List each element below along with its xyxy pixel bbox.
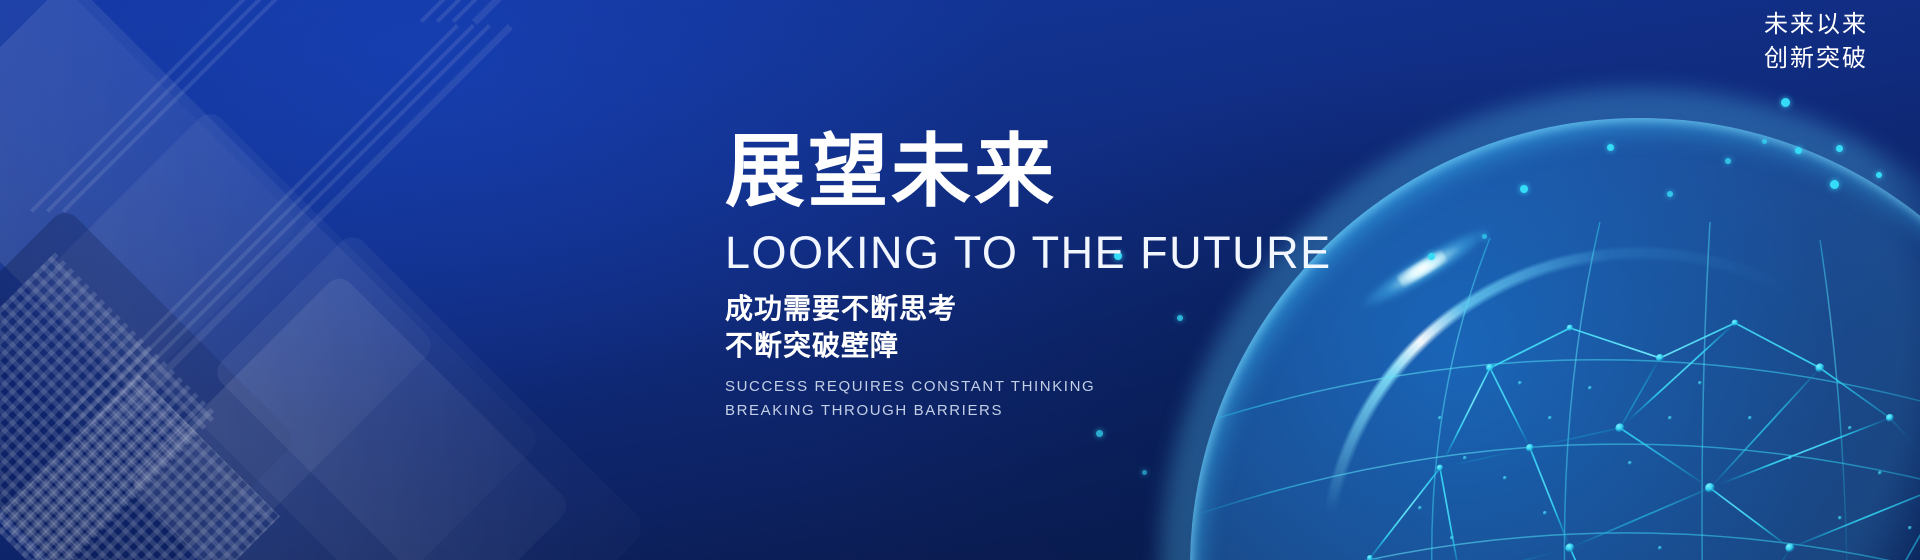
hero-copy: 展望未来 LOOKING TO THE FUTURE 成功需要不断思考 不断突破… xyxy=(725,132,1425,424)
corner-tagline-line-1: 未来以来 xyxy=(1764,8,1868,42)
corner-tagline-line-2: 创新突破 xyxy=(1764,42,1868,76)
tagline-en-line-2: BREAKING THROUGH BARRIERS xyxy=(725,399,1425,423)
hero-banner: 展望未来 LOOKING TO THE FUTURE 成功需要不断思考 不断突破… xyxy=(0,0,1920,560)
tagline-en: SUCCESS REQUIRES CONSTANT THINKING BREAK… xyxy=(725,375,1425,424)
tagline-cn-line-2: 不断突破壁障 xyxy=(725,328,1425,365)
tagline-cn: 成功需要不断思考 不断突破壁障 xyxy=(725,291,1425,365)
page-subtitle-en: LOOKING TO THE FUTURE xyxy=(725,230,1425,275)
page-title: 展望未来 xyxy=(725,132,1425,212)
tagline-en-line-1: SUCCESS REQUIRES CONSTANT THINKING xyxy=(725,375,1425,399)
tagline-cn-line-1: 成功需要不断思考 xyxy=(725,291,1425,328)
corner-tagline: 未来以来 创新突破 xyxy=(1764,8,1868,76)
